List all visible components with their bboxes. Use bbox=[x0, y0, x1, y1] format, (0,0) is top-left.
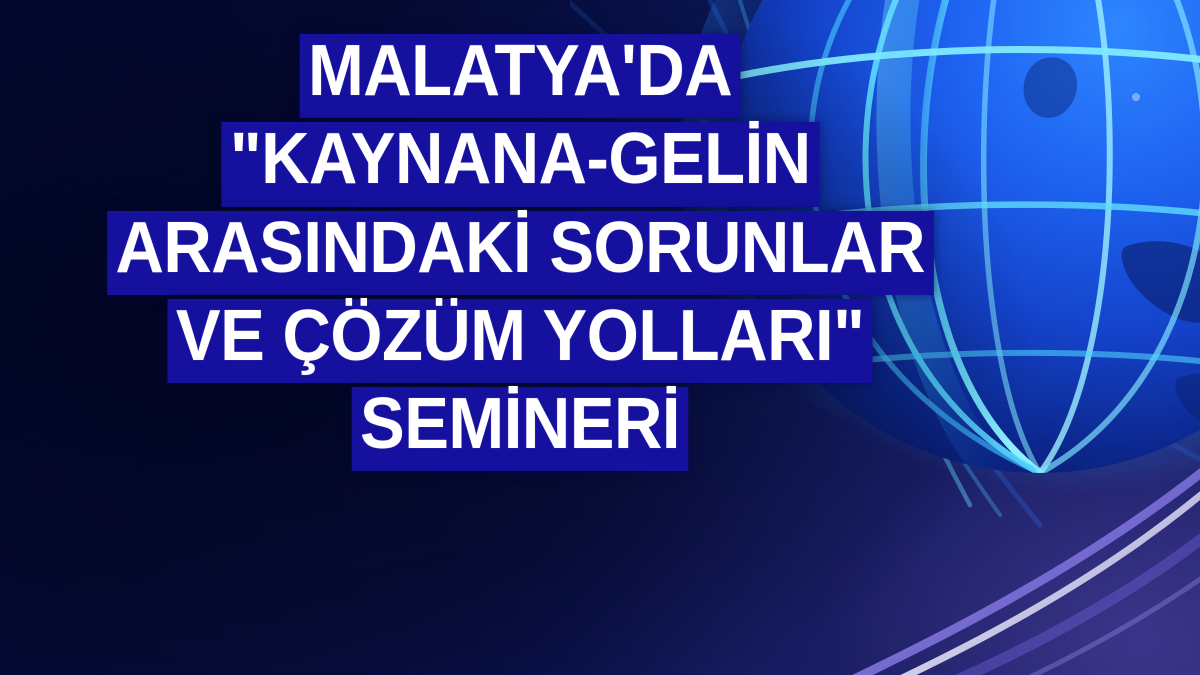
headline-line-5-text: SEMİNERİ bbox=[352, 387, 689, 471]
headline-line-1: MALATYA'DA bbox=[0, 34, 1040, 118]
headline-line-4-text: VE ÇÖZÜM YOLLARI" bbox=[167, 299, 872, 383]
headline-line-2: "KAYNANA-GELİN bbox=[0, 122, 1040, 206]
headline-line-3: ARASINDAKİ SORUNLAR bbox=[0, 211, 1040, 295]
headline-line-2-text: "KAYNANA-GELİN bbox=[221, 122, 819, 206]
headline-line-3-text: ARASINDAKİ SORUNLAR bbox=[107, 211, 933, 295]
headline-line-5: SEMİNERİ bbox=[0, 387, 1040, 471]
news-title-card: MALATYA'DA "KAYNANA-GELİN ARASINDAKİ SOR… bbox=[0, 0, 1200, 675]
headline: MALATYA'DA "KAYNANA-GELİN ARASINDAKİ SOR… bbox=[0, 34, 1040, 471]
headline-line-4: VE ÇÖZÜM YOLLARI" bbox=[0, 299, 1040, 383]
headline-line-1-text: MALATYA'DA bbox=[300, 34, 741, 118]
